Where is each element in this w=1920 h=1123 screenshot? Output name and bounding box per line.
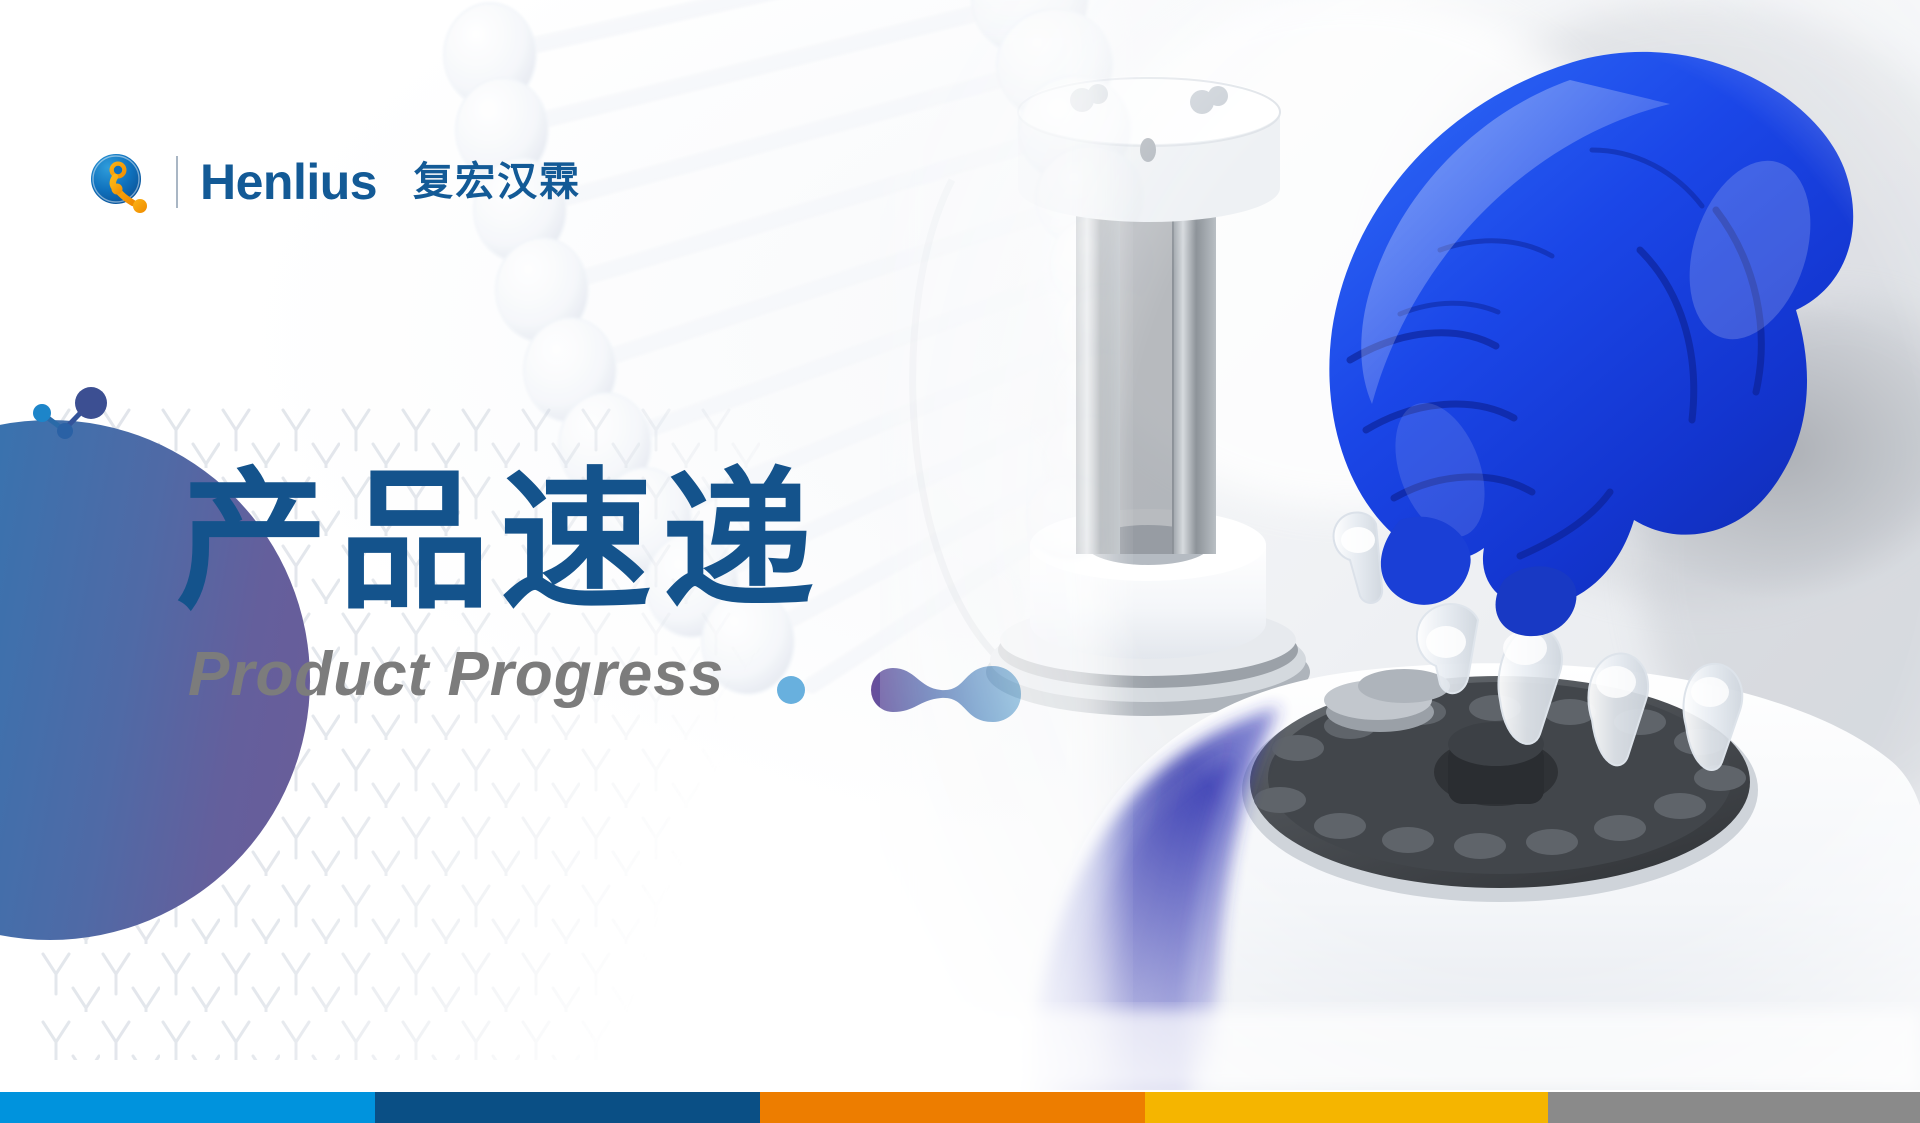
- laboratory-centrifuge-photo: [880, 0, 1920, 1090]
- colorbar-segment-gold: [1145, 1092, 1548, 1123]
- colorbar-segment-dark-blue: [375, 1092, 760, 1123]
- brand-color-bar: [0, 1092, 1920, 1123]
- colorbar-segment-light-blue: [0, 1092, 375, 1123]
- brand-name-cn: 复宏汉霖: [413, 162, 581, 202]
- colorbar-segment-grey: [1548, 1092, 1920, 1123]
- brand-divider: [176, 156, 178, 208]
- colorbar-segment-orange: [760, 1092, 1145, 1123]
- cover-slide: Henlius 复宏汉霖 产品速递 Product Progress: [0, 0, 1920, 1123]
- molecule-icon-small: [22, 385, 112, 455]
- page-subtitle: Product Progress: [188, 644, 724, 706]
- henlius-molecule-logo-icon: [88, 151, 150, 213]
- brand-lockup: Henlius 复宏汉霖: [88, 148, 581, 216]
- page-title: 产品速递: [176, 460, 824, 624]
- brand-name-en: Henlius: [200, 157, 377, 207]
- accent-dot: [777, 676, 805, 704]
